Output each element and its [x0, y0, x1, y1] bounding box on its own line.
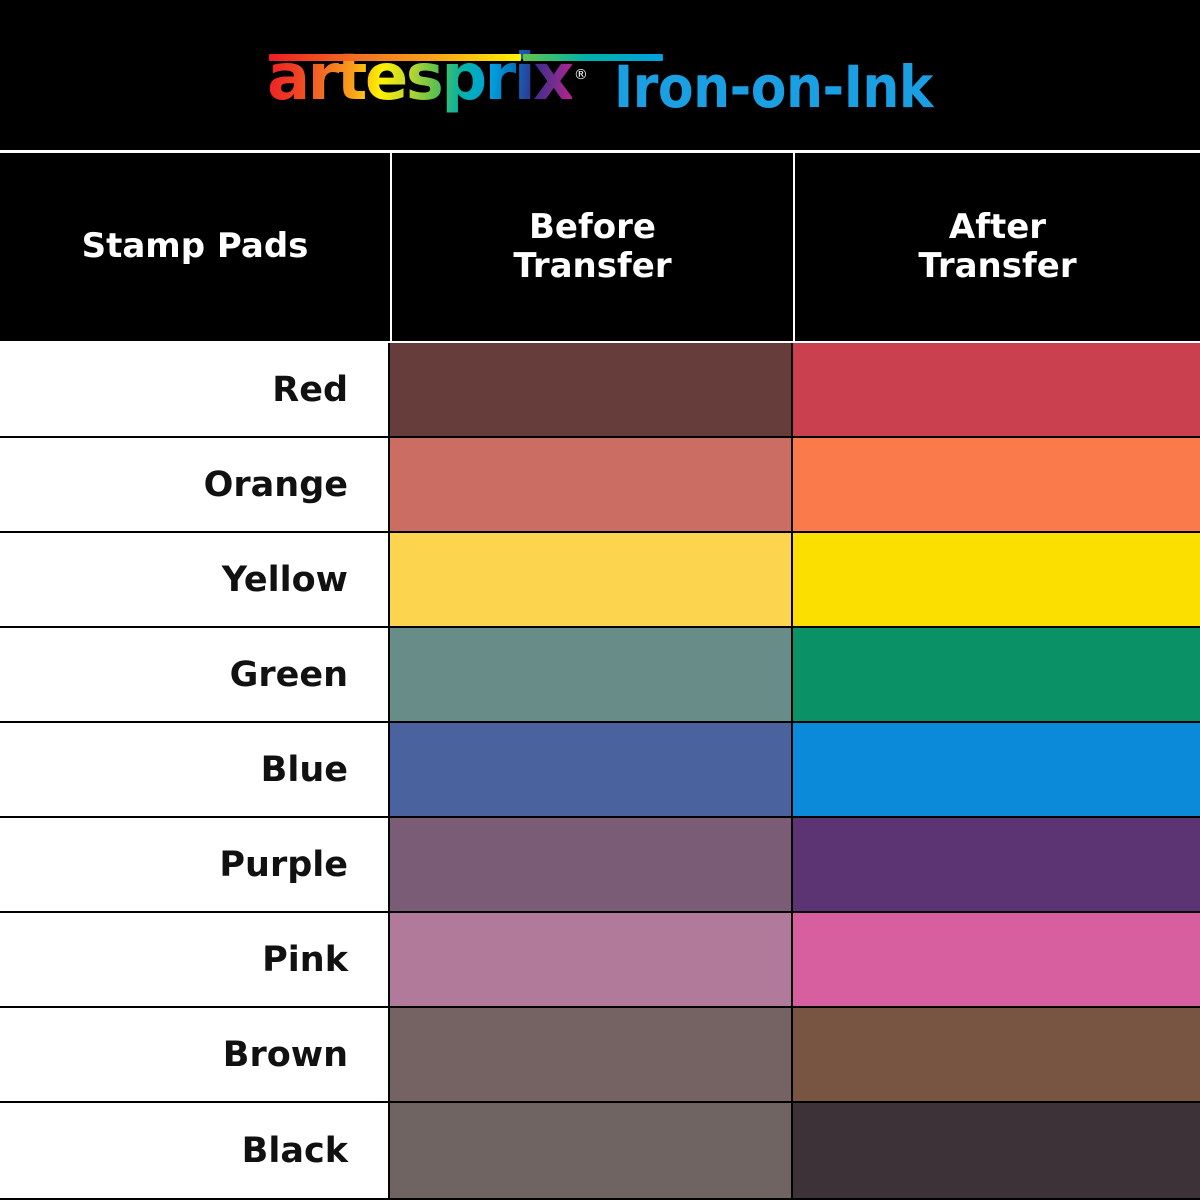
table-row: Red	[0, 343, 1200, 438]
swatch-after-pink	[793, 913, 1200, 1008]
swatch-before-red	[390, 343, 793, 438]
table-row: Yellow	[0, 533, 1200, 628]
row-label-black: Black	[0, 1103, 390, 1198]
table-header-row: Stamp Pads Before Transfer After Transfe…	[0, 153, 1200, 343]
swatch-before-green	[390, 628, 793, 723]
swatch-before-brown	[390, 1008, 793, 1103]
column-header-before-transfer: Before Transfer	[390, 153, 793, 343]
swatch-after-brown	[793, 1008, 1200, 1103]
row-label-yellow: Yellow	[0, 533, 390, 628]
swatch-after-yellow	[793, 533, 1200, 628]
swatch-before-blue	[390, 723, 793, 818]
row-label-purple: Purple	[0, 818, 390, 913]
swatch-before-pink	[390, 913, 793, 1008]
row-label-red: Red	[0, 343, 390, 438]
row-label-orange: Orange	[0, 438, 390, 533]
brand-wordmark: artesprix	[267, 31, 572, 115]
swatch-before-black	[390, 1103, 793, 1198]
table-row: Pink	[0, 913, 1200, 1008]
table-row: Brown	[0, 1008, 1200, 1103]
swatch-after-black	[793, 1103, 1200, 1198]
registered-trademark-icon: ®	[574, 68, 588, 82]
swatch-after-purple	[793, 818, 1200, 913]
column-header-after-transfer: After Transfer	[793, 153, 1200, 343]
table-row: Blue	[0, 723, 1200, 818]
row-label-brown: Brown	[0, 1008, 390, 1103]
brand-tagline: Iron-on-Ink	[614, 59, 933, 117]
swatch-before-orange	[390, 438, 793, 533]
table-row: Purple	[0, 818, 1200, 913]
table-row: Orange	[0, 438, 1200, 533]
swatch-after-red	[793, 343, 1200, 438]
row-label-pink: Pink	[0, 913, 390, 1008]
row-label-blue: Blue	[0, 723, 390, 818]
brand-header: artesprix ® Iron-on-Ink	[0, 0, 1200, 150]
column-header-stamp-pads: Stamp Pads	[0, 153, 390, 343]
swatch-before-yellow	[390, 533, 793, 628]
swatch-after-green	[793, 628, 1200, 723]
table-row: Black	[0, 1103, 1200, 1198]
swatch-after-orange	[793, 438, 1200, 533]
table-row: Green	[0, 628, 1200, 723]
artesprix-logo: artesprix ®	[267, 46, 588, 110]
row-label-green: Green	[0, 628, 390, 723]
logo-bar-left	[269, 54, 521, 61]
swatch-after-blue	[793, 723, 1200, 818]
color-comparison-table: Stamp Pads Before Transfer After Transfe…	[0, 150, 1200, 1198]
swatch-before-purple	[390, 818, 793, 913]
page-root: artesprix ® Iron-on-Ink Stamp Pads Befor…	[0, 0, 1200, 1200]
table-body: RedOrangeYellowGreenBluePurplePinkBrownB…	[0, 343, 1200, 1198]
